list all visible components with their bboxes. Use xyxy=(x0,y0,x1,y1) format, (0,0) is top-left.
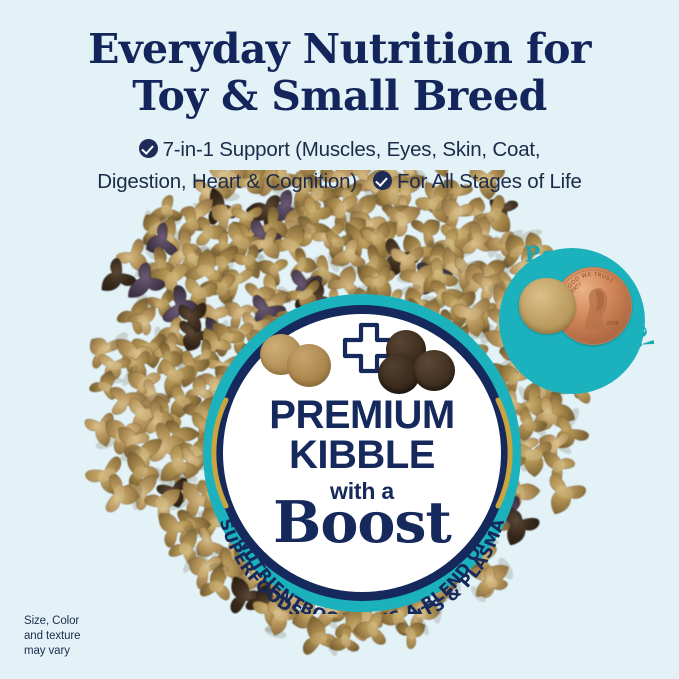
product-feature-image: Everyday Nutrition for Toy & Small Breed… xyxy=(0,0,679,679)
feature-bullets: 7-in-1 Support (Muscles, Eyes, Skin, Coa… xyxy=(0,133,679,197)
dark-kibble-icon xyxy=(413,350,455,391)
check-circle-icon xyxy=(373,171,392,190)
disclaimer-line-2: and texture xyxy=(24,629,144,644)
bullet-row-1: 7-in-1 Support (Muscles, Eyes, Skin, Coa… xyxy=(0,133,679,165)
tan-kibble-icon xyxy=(287,344,331,387)
headline-line-1: Everyday Nutrition for xyxy=(88,25,591,73)
headline-line-2: Toy & Small Breed xyxy=(0,73,679,120)
bullet-1-label-cont: Digestion, Heart & Cognition) xyxy=(97,170,357,193)
disclaimer-text: Size, Color and texture may vary xyxy=(24,614,144,659)
bullet-2-label: For All Stages of Life xyxy=(397,170,582,193)
premium-kibble-badge: NUTRIENTBOOST™ IS A BLEND OF SUPERFOODS,… xyxy=(182,292,542,614)
bullet-row-2: Digestion, Heart & Cognition)For All Sta… xyxy=(0,165,679,197)
bullet-1-label: 7-in-1 Support (Muscles, Eyes, Skin, Coa… xyxy=(163,138,541,161)
check-circle-icon xyxy=(139,139,158,158)
disclaimer-line-3: may vary xyxy=(24,644,144,659)
svg-text:2008: 2008 xyxy=(606,321,619,327)
page-title: Everyday Nutrition for Toy & Small Breed xyxy=(0,26,679,120)
disclaimer-line-1: Size, Color xyxy=(24,614,144,629)
